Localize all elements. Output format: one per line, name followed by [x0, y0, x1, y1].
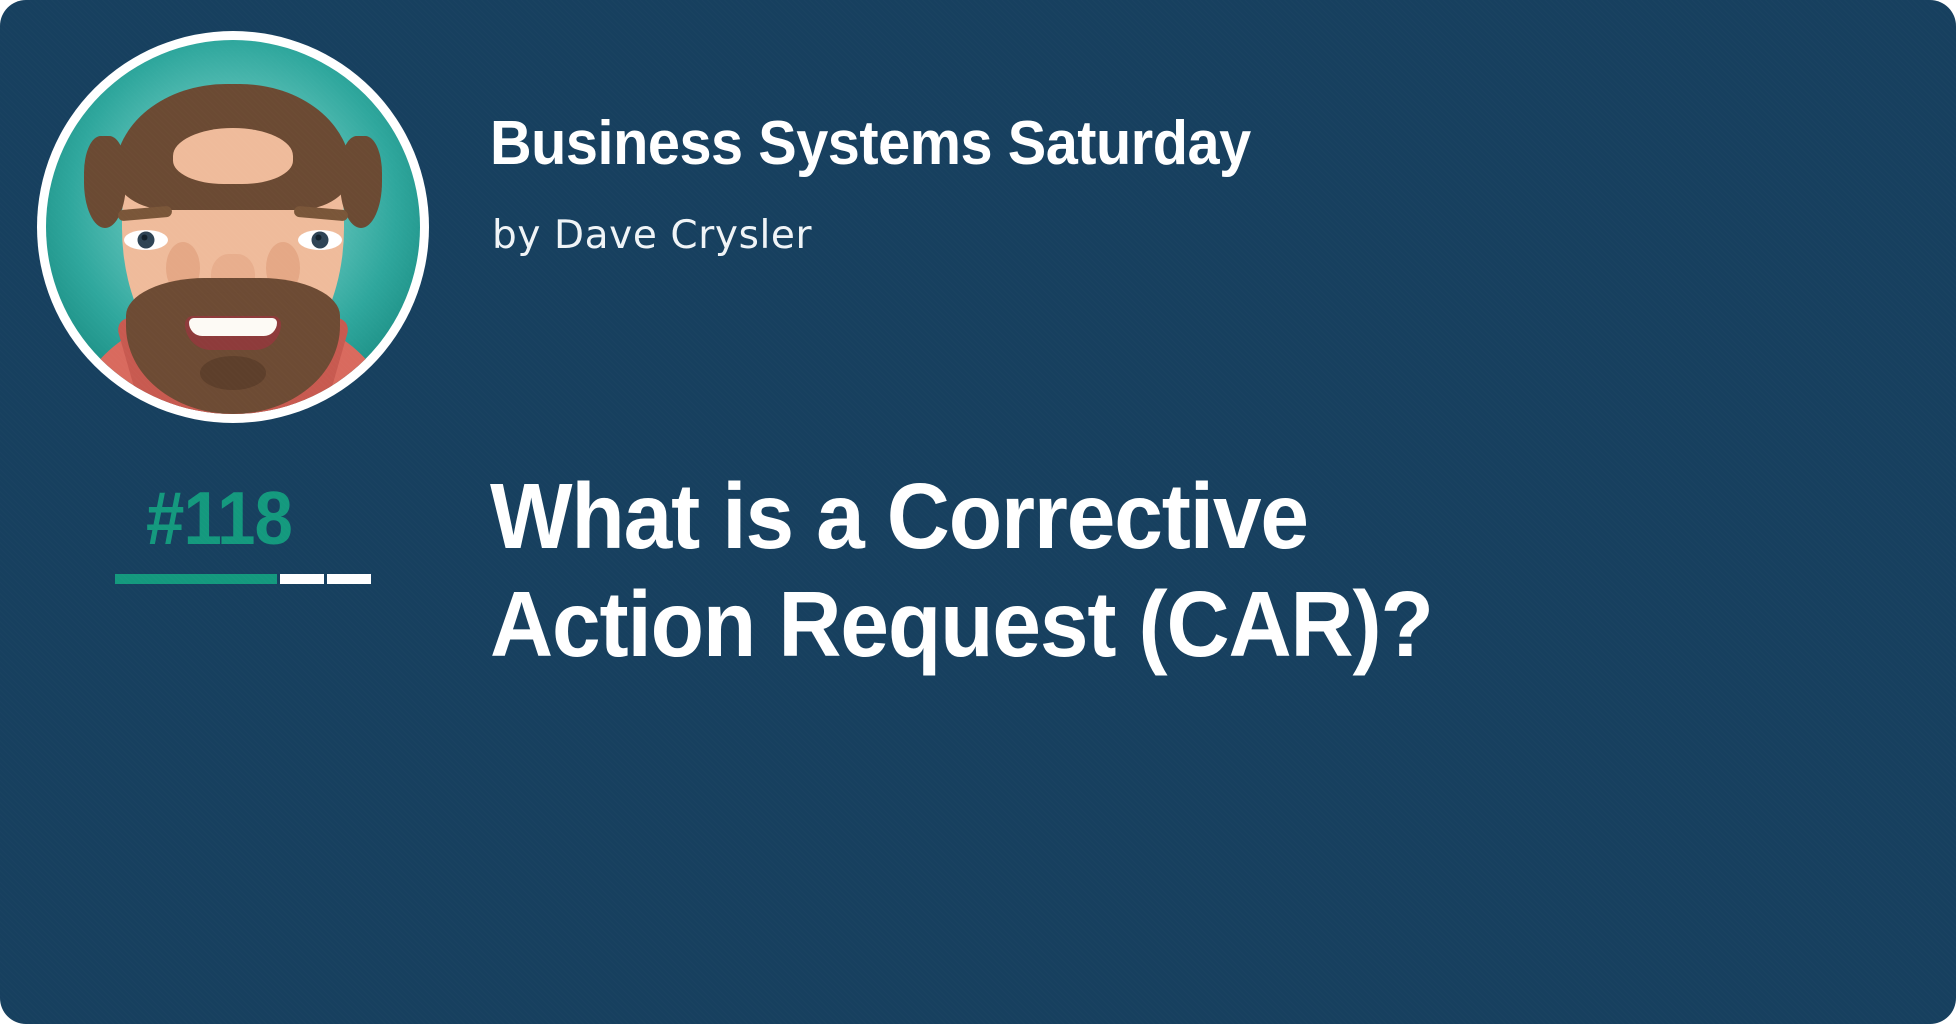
portrait-pupil-left — [138, 232, 155, 249]
issue-rule-segment-white-2 — [327, 574, 371, 584]
portrait-chin-beard — [200, 356, 266, 390]
newsletter-cover-card: Business Systems Saturday by Dave Crysle… — [0, 0, 1956, 1024]
portrait-eye-left — [124, 230, 168, 250]
portrait-teeth — [189, 318, 277, 336]
portrait-mouth — [185, 316, 281, 350]
portrait-mustache — [177, 292, 289, 318]
avatar — [37, 31, 429, 423]
issue-rule — [115, 574, 371, 584]
brand-byline: by Dave Crysler — [492, 216, 812, 255]
page-title-line-1: What is a Corrective — [490, 462, 1656, 570]
avatar-image — [46, 40, 420, 414]
brand-title: Business Systems Saturday — [490, 113, 1251, 175]
issue-rule-segment-white-1 — [280, 574, 324, 584]
portrait-forehead — [173, 128, 293, 184]
page-title-line-2: Action Request (CAR)? — [490, 570, 1656, 678]
page-title: What is a Corrective Action Request (CAR… — [490, 462, 1656, 678]
issue-number: #118 — [146, 481, 292, 556]
issue-rule-segment-teal — [115, 574, 277, 584]
portrait-eye-right — [298, 230, 342, 250]
portrait-illustration — [46, 40, 420, 414]
portrait-pupil-right — [312, 232, 329, 249]
